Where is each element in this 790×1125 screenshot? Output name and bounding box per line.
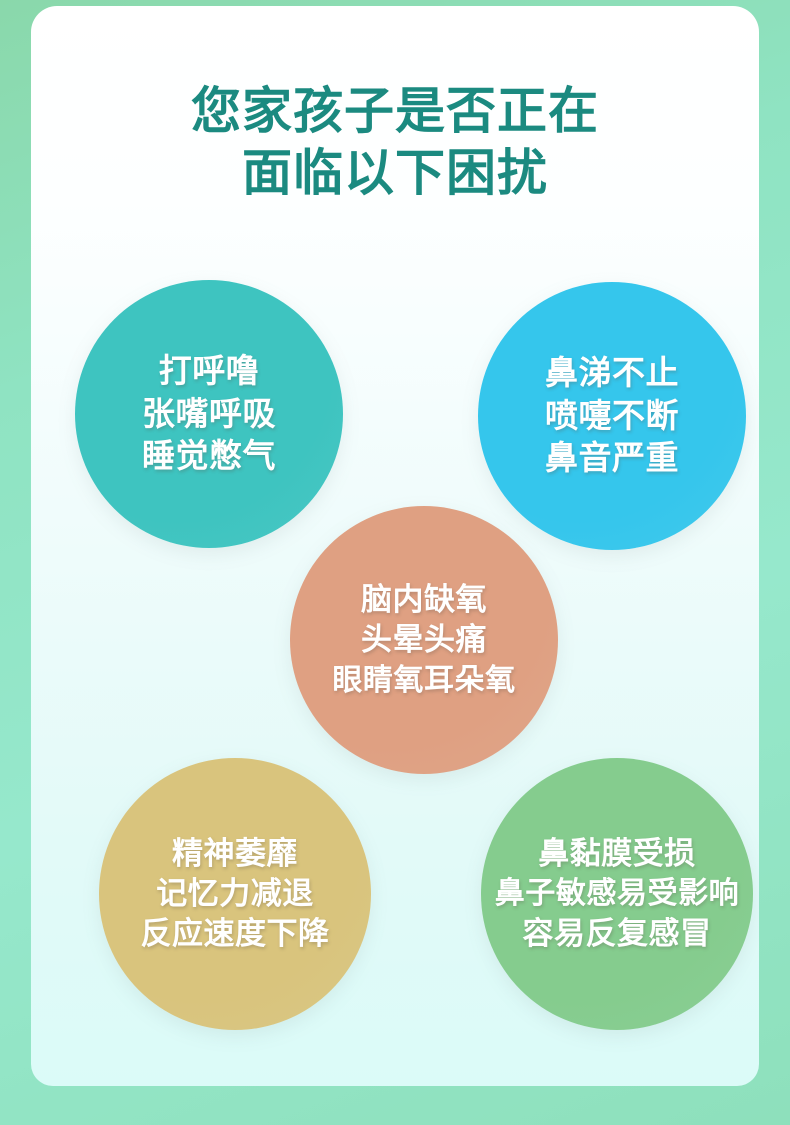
symptom-bubble-brain-hypoxia-text: 脑内缺氧 头晕头痛 眼睛氧耳朵氧 bbox=[290, 580, 558, 700]
symptom-line: 张嘴呼吸 bbox=[75, 393, 343, 436]
page-title-line-1: 您家孩子是否正在 bbox=[31, 80, 759, 142]
symptom-line: 鼻黏膜受损 bbox=[481, 834, 753, 874]
symptom-line: 反应速度下降 bbox=[99, 914, 371, 954]
symptom-bubble-brain-hypoxia[interactable]: 脑内缺氧 头晕头痛 眼睛氧耳朵氧 bbox=[290, 506, 558, 774]
content-card: 您家孩子是否正在 面临以下困扰 打呼噜 张嘴呼吸 睡觉憋气 鼻涕不止 喷嚏不断 … bbox=[31, 6, 759, 1086]
symptom-bubble-nasal-mucosa[interactable]: 鼻黏膜受损 鼻子敏感易受影响 容易反复感冒 bbox=[481, 758, 753, 1030]
symptom-bubble-nasal-mucosa-text: 鼻黏膜受损 鼻子敏感易受影响 容易反复感冒 bbox=[481, 834, 753, 954]
symptom-bubble-snoring-text: 打呼噜 张嘴呼吸 睡觉憋气 bbox=[75, 350, 343, 479]
symptom-line: 鼻子敏感易受影响 bbox=[481, 874, 753, 913]
symptom-bubble-low-energy-text: 精神萎靡 记忆力减退 反应速度下降 bbox=[99, 834, 371, 955]
symptom-line: 打呼噜 bbox=[75, 350, 343, 393]
symptom-line: 眼睛氧耳朵氧 bbox=[290, 661, 558, 700]
symptom-line: 头晕头痛 bbox=[290, 620, 558, 660]
page-title: 您家孩子是否正在 面临以下困扰 bbox=[31, 80, 759, 204]
symptom-line: 睡觉憋气 bbox=[75, 435, 343, 478]
page-title-line-2: 面临以下困扰 bbox=[31, 142, 759, 204]
symptom-line: 喷嚏不断 bbox=[478, 395, 746, 438]
symptom-line: 鼻音严重 bbox=[478, 437, 746, 480]
symptom-line: 记忆力减退 bbox=[99, 874, 371, 914]
symptom-line: 精神萎靡 bbox=[99, 834, 371, 874]
symptom-bubble-runny-nose-text: 鼻涕不止 喷嚏不断 鼻音严重 bbox=[478, 352, 746, 481]
symptom-bubble-low-energy[interactable]: 精神萎靡 记忆力减退 反应速度下降 bbox=[99, 758, 371, 1030]
symptom-line: 鼻涕不止 bbox=[478, 352, 746, 395]
symptom-line: 容易反复感冒 bbox=[481, 914, 753, 954]
symptom-line: 脑内缺氧 bbox=[290, 580, 558, 620]
symptom-bubble-runny-nose[interactable]: 鼻涕不止 喷嚏不断 鼻音严重 bbox=[478, 282, 746, 550]
symptom-bubble-snoring[interactable]: 打呼噜 张嘴呼吸 睡觉憋气 bbox=[75, 280, 343, 548]
poster-frame: 您家孩子是否正在 面临以下困扰 打呼噜 张嘴呼吸 睡觉憋气 鼻涕不止 喷嚏不断 … bbox=[0, 0, 790, 1125]
